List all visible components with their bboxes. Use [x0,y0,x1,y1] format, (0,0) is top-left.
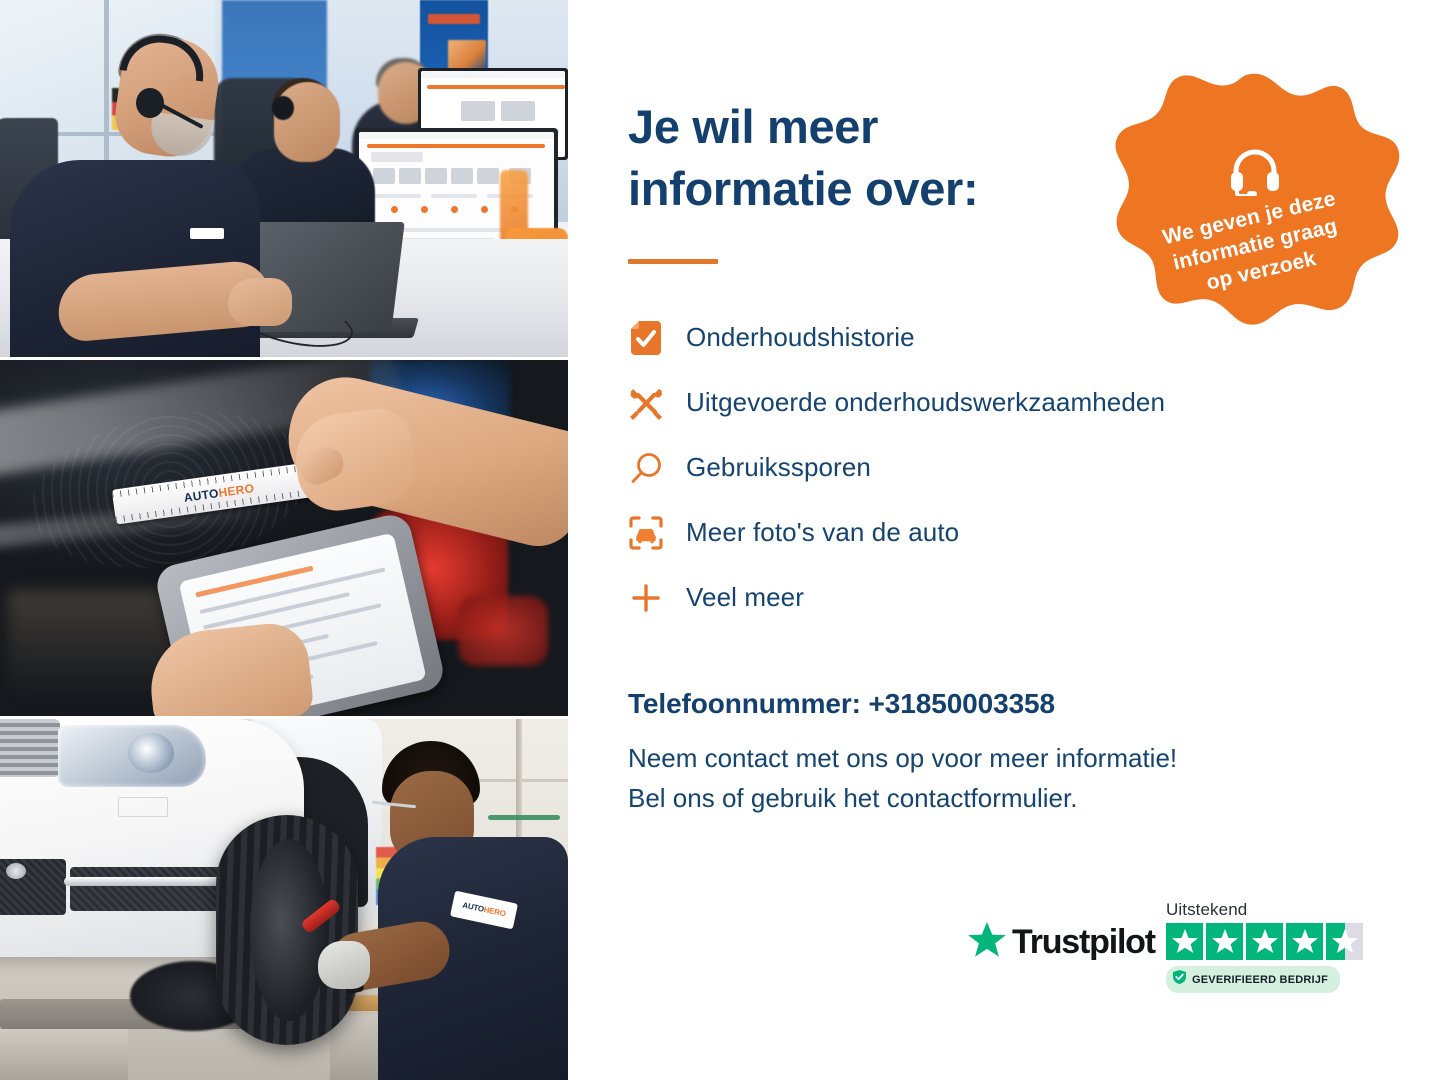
request-info-badge: We geven je deze informatie graag op ver… [1110,68,1400,358]
taillight-reflection [458,596,548,666]
list-item: Veel meer [628,565,1388,630]
car-inspection-ruler-photo: AUTOHERO [0,360,568,716]
tire-inner [250,839,328,1021]
car-scan-icon [628,515,664,551]
star-rating [1166,923,1366,960]
chrome-trim [64,877,232,886]
list-item: Uitgevoerde onderhoudswerkzaamheden [628,370,1388,435]
verified-company-label: GEVERIFIEERD BEDRIJF [1192,974,1328,986]
contact-text-line-1: Neem contact met ons op voor meer inform… [628,738,1388,778]
work-glove [318,941,370,989]
wheel-service-photo: AUTOHERO [0,719,568,1080]
trustpilot-widget[interactable]: Trustpilot Uitstekend [968,900,1368,1008]
contact-text: Neem contact met ons op voor meer inform… [628,738,1388,819]
lower-grille [70,867,240,911]
star-filled-icon [1166,923,1203,960]
star-half-icon [1326,923,1363,960]
trustpilot-star-icon [968,922,1006,963]
shield-check-icon [1173,970,1186,989]
trustpilot-rating: Uitstekend [1166,900,1366,993]
page-title-line-1: Je wil meer [628,96,1108,158]
list-item: Meer foto's van de auto [628,500,1388,565]
badge-text: We geven je deze informatie graag op ver… [1160,186,1350,304]
logo-part-hero: HERO [483,905,507,918]
list-item: Gebruikssporen [628,435,1388,500]
logo-part-auto: AUTO [183,486,220,505]
magnifier-icon [628,450,664,486]
trustpilot-logo: Trustpilot [968,922,1155,963]
trustpilot-wordmark: Trustpilot [1012,923,1155,962]
green-hose [488,815,560,820]
callcenter-agents-photo [0,0,568,357]
list-item-label: Gebruikssporen [686,452,871,483]
agent-head [274,82,340,162]
fog-light [6,863,26,879]
page-title-line-2: informatie over: [628,158,1108,220]
phone-number[interactable]: Telefoonnummer: +31850003358 [628,688,1055,720]
star-filled-icon [1246,923,1283,960]
car-grille [0,719,60,777]
wrench-screwdriver-icon [628,385,664,421]
page-title: Je wil meer informatie over: [628,96,1108,220]
document-check-icon [628,320,664,356]
tool-cabinet [0,1029,128,1080]
list-item-label: Veel meer [686,582,804,613]
plus-icon [628,580,664,616]
list-item-label: Onderhoudshistorie [686,322,915,353]
agent-hand [228,278,292,326]
list-item-label: Uitgevoerde onderhoudswerkzaamheden [686,387,1165,418]
title-divider [628,259,718,264]
list-item-label: Meer foto's van de auto [686,517,959,548]
verified-company-badge: GEVERIFIEERD BEDRIJF [1166,966,1340,993]
logo-part-hero: HERO [218,481,255,500]
badge-content: We geven je deze informatie graag op ver… [1110,68,1400,358]
contact-text-line-2: Bel ons of gebruik het contactformulier. [628,778,1388,818]
rating-label: Uitstekend [1166,900,1366,920]
headset-earcup [272,96,294,120]
photo-column: AUTOHERO [0,0,568,1080]
headset-icon [1229,146,1281,201]
headlight-lens [128,733,174,773]
polo-logo [190,228,224,239]
logo-part-auto: AUTO [462,901,485,914]
star-filled-icon [1286,923,1323,960]
licence-plate-area [118,797,168,817]
star-filled-icon [1206,923,1243,960]
